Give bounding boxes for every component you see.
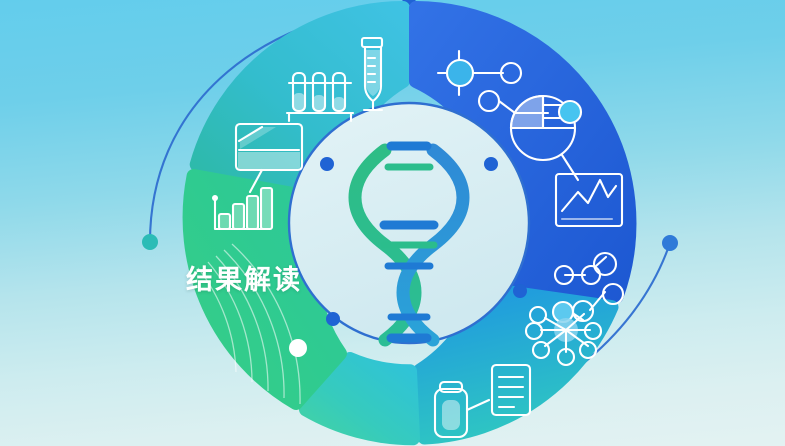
ring-dot-bottom-left xyxy=(326,312,340,326)
infographic-graphics xyxy=(0,0,785,446)
infographic-canvas: 结果解读 xyxy=(0,0,785,446)
ring-dot-top-left xyxy=(320,157,334,171)
arc-right-end-dot xyxy=(662,235,678,251)
accent-white-dot xyxy=(289,339,307,357)
arc-left-end-dot xyxy=(142,234,158,250)
ring-dot-bottom-right xyxy=(513,284,527,298)
ring-dot-top-right xyxy=(484,157,498,171)
